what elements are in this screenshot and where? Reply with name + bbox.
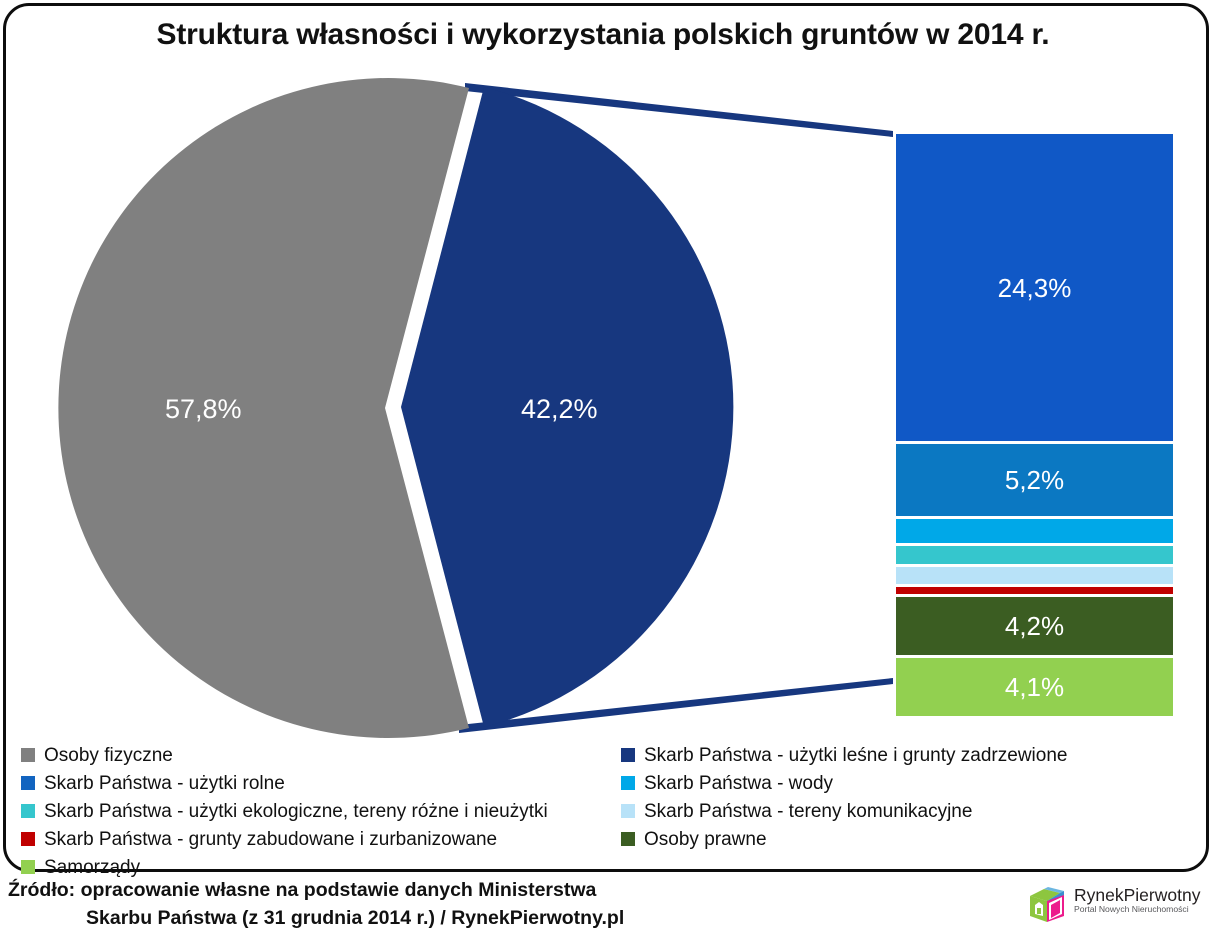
legend-item-label: Osoby prawne bbox=[644, 830, 767, 849]
rynek-pierwotny-logo[interactable]: RynekPierwotny Portal Nowych Nieruchomoś… bbox=[1026, 884, 1208, 930]
legend-item[interactable]: Osoby fizyczne bbox=[17, 742, 617, 768]
legend-swatch-icon bbox=[21, 776, 35, 790]
legend-item-label: Samorządy bbox=[44, 858, 140, 877]
legend-item-label: Skarb Państwa - wody bbox=[644, 774, 833, 793]
legend-swatch-icon bbox=[621, 832, 635, 846]
source-line-1: Źródło: opracowanie własne na podstawie … bbox=[8, 877, 788, 905]
bar-segment-label: 24,3% bbox=[998, 275, 1072, 301]
bar-segment-uzytki-lesne: 24,3% bbox=[896, 134, 1173, 441]
bar-segment-wody bbox=[896, 519, 1173, 543]
legend-swatch-icon bbox=[621, 776, 635, 790]
bar-segment-zabudowane bbox=[896, 587, 1173, 594]
source-note: Źródło: opracowanie własne na podstawie … bbox=[8, 877, 788, 932]
plot-area: 57,8% 42,2% 24,3%5,2%4,2%4,1% Osoby fizy… bbox=[3, 3, 1209, 872]
pie-label-skarb-panstwa: 42,2% bbox=[521, 394, 598, 425]
logo-name: RynekPierwotny bbox=[1074, 886, 1200, 904]
bar-segment-komunikacyjne bbox=[896, 567, 1173, 584]
chart-page: Struktura własności i wykorzystania pols… bbox=[0, 0, 1216, 937]
legend-column-left: Osoby fizyczneSkarb Państwa - użytki rol… bbox=[17, 742, 617, 882]
legend-item-label: Skarb Państwa - użytki leśne i grunty za… bbox=[644, 746, 1067, 765]
legend-item[interactable]: Skarb Państwa - użytki leśne i grunty za… bbox=[617, 742, 1207, 768]
legend-item[interactable]: Skarb Państwa - użytki rolne bbox=[17, 770, 617, 796]
bar-segment-osoby-prawne: 4,2% bbox=[896, 597, 1173, 655]
legend-item-label: Skarb Państwa - użytki ekologiczne, tere… bbox=[44, 802, 548, 821]
legend-item-label: Skarb Państwa - grunty zabudowane i zurb… bbox=[44, 830, 497, 849]
bar-segment-uzytki-rolne: 5,2% bbox=[896, 444, 1173, 516]
legend-item[interactable]: Osoby prawne bbox=[617, 826, 1207, 852]
source-line-2: Skarbu Państwa (z 31 grudnia 2014 r.) / … bbox=[8, 905, 788, 933]
legend-item-label: Skarb Państwa - użytki rolne bbox=[44, 774, 285, 793]
bar-segment-ekologiczne bbox=[896, 546, 1173, 564]
legend-item[interactable]: Skarb Państwa - wody bbox=[617, 770, 1207, 796]
bar-segment-samorzady: 4,1% bbox=[896, 658, 1173, 716]
legend-swatch-icon bbox=[621, 748, 635, 762]
bar-segment-label: 4,1% bbox=[1005, 674, 1064, 700]
legend-item-label: Osoby fizyczne bbox=[44, 746, 173, 765]
legend: Osoby fizyczneSkarb Państwa - użytki rol… bbox=[3, 742, 1209, 872]
logo-text: RynekPierwotny Portal Nowych Nieruchomoś… bbox=[1074, 886, 1200, 915]
legend-swatch-icon bbox=[21, 860, 35, 874]
legend-swatch-icon bbox=[21, 804, 35, 818]
stacked-bar: 24,3%5,2%4,2%4,1% bbox=[896, 134, 1173, 676]
legend-item-label: Skarb Państwa - tereny komunikacyjne bbox=[644, 802, 972, 821]
legend-swatch-icon bbox=[21, 832, 35, 846]
legend-item[interactable]: Skarb Państwa - tereny komunikacyjne bbox=[617, 798, 1207, 824]
house-cube-icon bbox=[1026, 886, 1068, 926]
legend-swatch-icon bbox=[21, 748, 35, 762]
legend-item[interactable]: Skarb Państwa - użytki ekologiczne, tere… bbox=[17, 798, 617, 824]
bar-segment-label: 5,2% bbox=[1005, 467, 1064, 493]
pie-label-osoby-fizyczne: 57,8% bbox=[165, 394, 242, 425]
legend-swatch-icon bbox=[621, 804, 635, 818]
legend-item[interactable]: Skarb Państwa - grunty zabudowane i zurb… bbox=[17, 826, 617, 852]
legend-column-right: Skarb Państwa - użytki leśne i grunty za… bbox=[617, 742, 1207, 854]
bar-segment-label: 4,2% bbox=[1005, 613, 1064, 639]
logo-tagline: Portal Nowych Nieruchomości bbox=[1074, 905, 1200, 914]
